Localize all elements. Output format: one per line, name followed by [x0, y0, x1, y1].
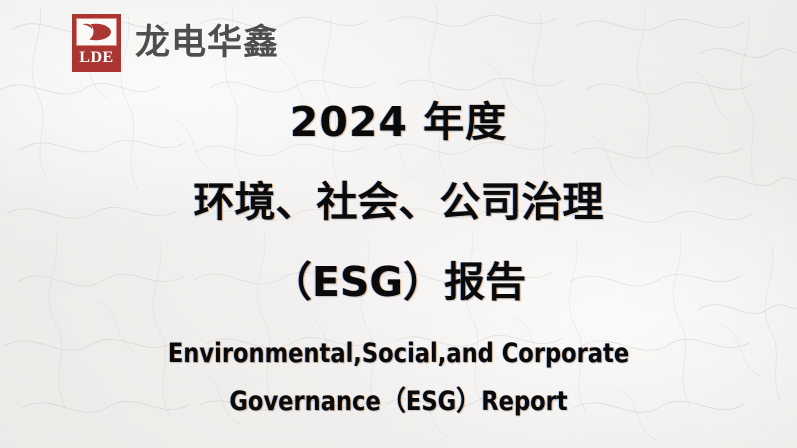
report-subtitle-block: Environmental,Social,and Corporate Gover… — [0, 330, 797, 426]
subtitle-line-two: Governance（ESG）Report — [28, 378, 769, 426]
report-cover-page: LDE 龙电华鑫 2024 年度 环境、社会、公司治理 （ESG）报告 Envi… — [0, 0, 797, 448]
subtitle-line-one: Environmental,Social,and Corporate — [28, 330, 769, 378]
company-logo: LDE — [72, 14, 121, 72]
logo-abbreviation: LDE — [79, 46, 113, 72]
company-name: 龙电华鑫 — [135, 26, 279, 61]
title-line-year: 2024 年度 — [0, 82, 797, 162]
logo-emblem-panel — [76, 18, 117, 46]
title-line-topic: 环境、社会、公司治理 — [0, 162, 797, 242]
crescent-ellipse-emblem-icon — [79, 21, 115, 43]
title-line-esg-report: （ESG）报告 — [0, 242, 797, 322]
report-title-block: 2024 年度 环境、社会、公司治理 （ESG）报告 — [0, 82, 797, 322]
brand-lockup: LDE 龙电华鑫 — [72, 14, 279, 72]
